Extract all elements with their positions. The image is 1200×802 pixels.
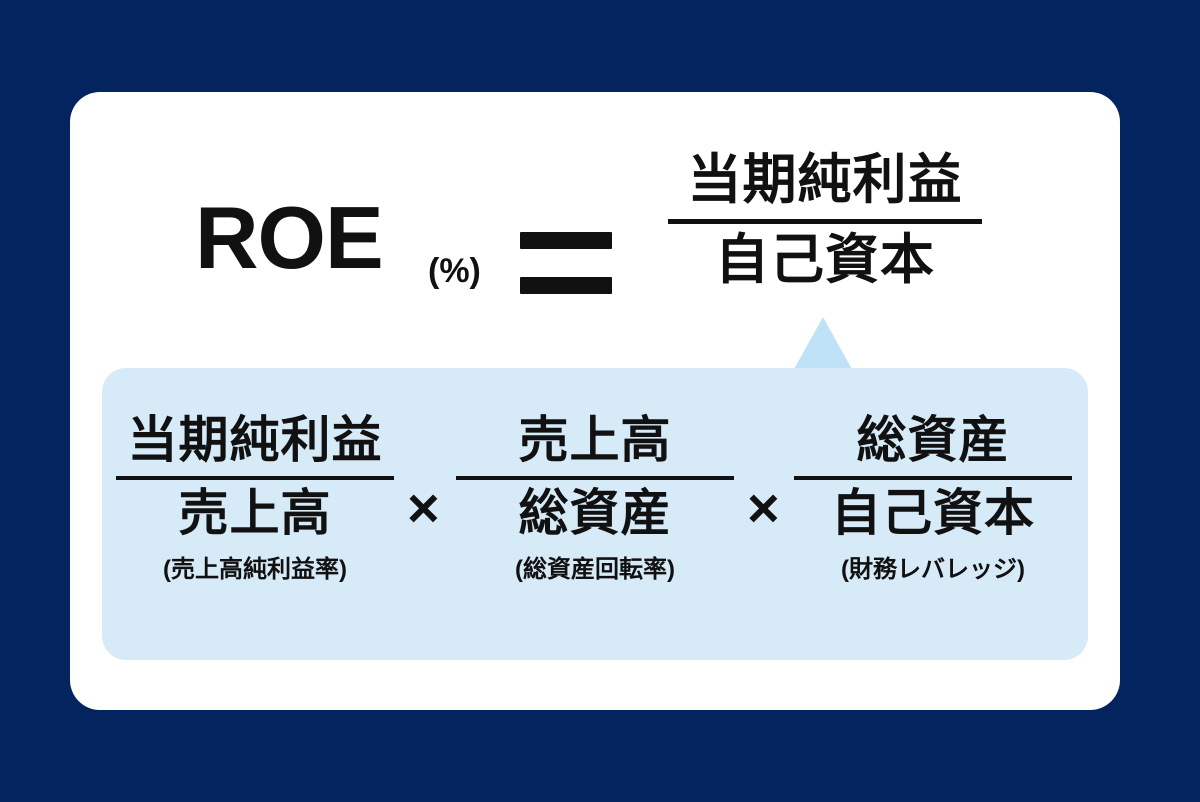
roe-equation: ROE (%) 当期純利益 自己資本 (70, 142, 1120, 372)
factor-1-caption: (売上高純利益率) (110, 549, 400, 584)
factor-profit-margin: 当期純利益 売上高 (売上高純利益率) (110, 414, 400, 584)
decomposition-factors: 当期純利益 売上高 (売上高純利益率) × 売上高 総資産 (総資産回転率) ×… (102, 368, 1088, 660)
factor-1-denominator: 売上高 (110, 487, 400, 540)
factor-3-denominator: 自己資本 (788, 487, 1078, 540)
factor-2-caption: (総資産回転率) (450, 549, 740, 584)
multiply-sign-1: × (407, 480, 440, 536)
multiply-sign-2: × (747, 480, 780, 536)
roe-subject-label: ROE (195, 194, 383, 282)
factor-3-caption: (財務レバレッジ) (788, 549, 1078, 584)
equals-sign (520, 232, 612, 294)
roe-fraction-numerator: 当期純利益 (660, 152, 990, 209)
factor-2-denominator: 総資産 (450, 487, 740, 540)
factor-1-rule (116, 476, 394, 480)
decomposition-panel: 当期純利益 売上高 (売上高純利益率) × 売上高 総資産 (総資産回転率) ×… (102, 368, 1088, 660)
factor-1-numerator: 当期純利益 (110, 414, 400, 467)
factor-3-rule (794, 476, 1072, 480)
equals-bar-bottom (520, 277, 612, 294)
factor-financial-leverage: 総資産 自己資本 (財務レバレッジ) (788, 414, 1078, 584)
factor-asset-turnover: 売上高 総資産 (総資産回転率) (450, 414, 740, 584)
factor-2-rule (456, 476, 734, 480)
formula-card: ROE (%) 当期純利益 自己資本 当期純利益 売上高 (売上高純 (70, 92, 1120, 710)
equals-bar-top (520, 232, 612, 249)
roe-result-fraction: 当期純利益 自己資本 (660, 152, 990, 288)
roe-unit-label: (%) (428, 254, 481, 288)
triangle-pointer-icon (793, 317, 853, 371)
roe-fraction-rule (668, 219, 982, 224)
factor-3-numerator: 総資産 (788, 414, 1078, 467)
factor-2-numerator: 売上高 (450, 414, 740, 467)
roe-fraction-denominator: 自己資本 (660, 232, 990, 289)
slide-canvas: ROE (%) 当期純利益 自己資本 当期純利益 売上高 (売上高純 (0, 0, 1200, 802)
